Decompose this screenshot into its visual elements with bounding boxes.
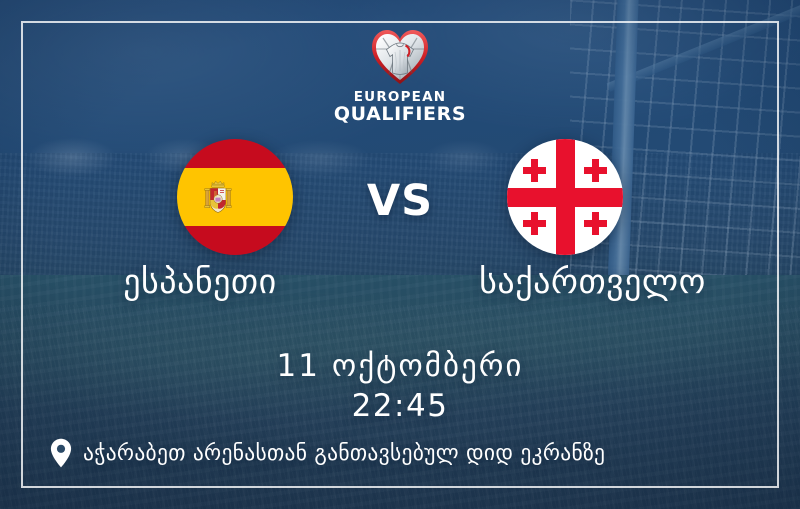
spain-flag-bottom-stripe [177, 226, 293, 255]
georgia-flag-icon [507, 139, 623, 255]
georgia-flag-cross-horizontal [507, 188, 623, 207]
georgia-bolnisi-cross-top-left [523, 159, 546, 182]
match-announcement-poster: EUROPEAN QUALIFIERS [0, 0, 800, 509]
competition-logo-block: EUROPEAN QUALIFIERS [0, 26, 800, 124]
home-team-name: ესპანეთი [0, 262, 400, 302]
venue-block: აჭარაბეთ არენასთან განთავსებულ დიდ ეკრან… [50, 438, 605, 468]
poster-content: EUROPEAN QUALIFIERS [0, 0, 800, 509]
spain-flag-top-stripe [177, 139, 293, 168]
georgia-bolnisi-cross-top-right [584, 159, 607, 182]
location-pin-icon [50, 438, 72, 468]
georgia-bolnisi-cross-bottom-right [584, 212, 607, 235]
away-team-name: საქართველო [385, 262, 800, 302]
venue-text: აჭარაბეთ არენასთან განთავსებულ დიდ ეკრან… [83, 441, 605, 466]
logo-line-european: EUROPEAN [334, 90, 466, 104]
georgia-bolnisi-cross-bottom-left [523, 212, 546, 235]
match-date: 11 ოქტომბერი [0, 348, 800, 384]
logo-line-qualifiers: QUALIFIERS [334, 104, 466, 124]
competition-logo-text: EUROPEAN QUALIFIERS [334, 90, 466, 124]
uefa-european-qualifiers-heart-ball-icon [369, 26, 431, 88]
match-time: 22:45 [0, 388, 800, 424]
vs-label: VS [0, 176, 800, 226]
